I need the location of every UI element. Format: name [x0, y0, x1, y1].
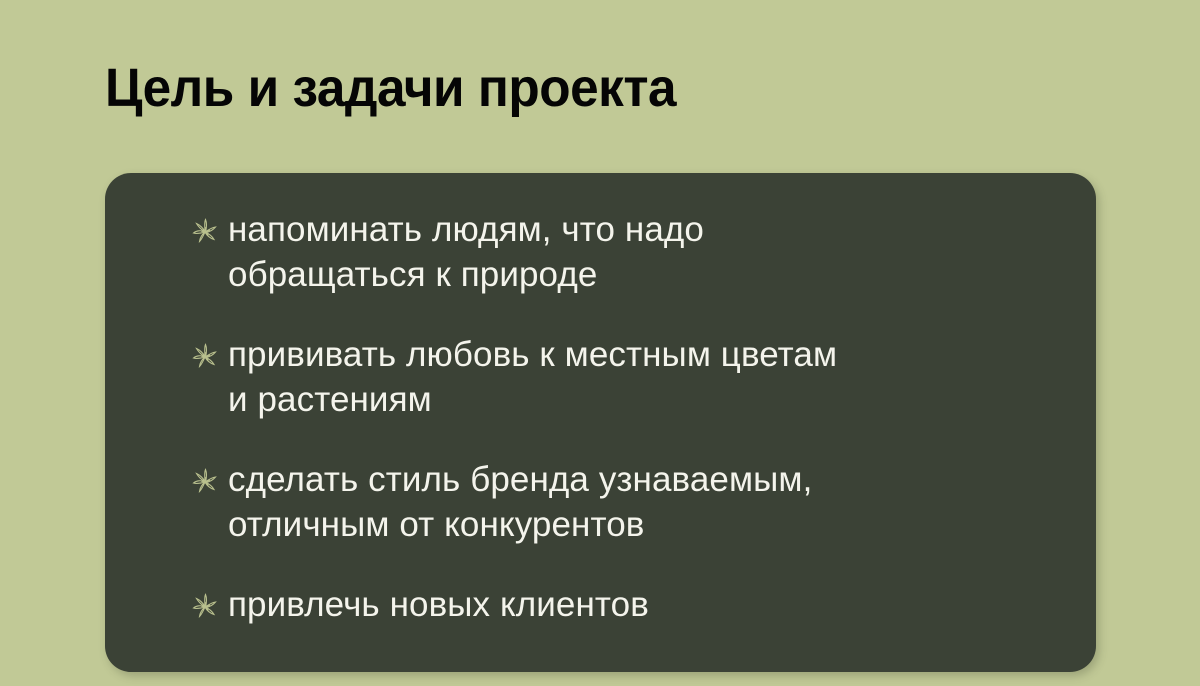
presentation-slide: Цель и задачи проекта напоминат — [0, 0, 1200, 686]
list-item-label: сделать стиль бренда узнаваемым, отличны… — [228, 457, 812, 547]
list-item: привлечь новых клиентов — [190, 582, 1068, 627]
list-item-label: напоминать людям, что надо обращаться к … — [228, 207, 704, 297]
list-item: прививать любовь к местным цветам и раст… — [190, 332, 1068, 422]
objectives-list: напоминать людям, что надо обращаться к … — [190, 207, 1068, 627]
objectives-card: напоминать людям, что надо обращаться к … — [105, 173, 1096, 672]
page-title: Цель и задачи проекта — [105, 57, 676, 119]
list-item-label: привлечь новых клиентов — [228, 582, 649, 627]
flower-leaf-icon — [190, 340, 220, 370]
flower-leaf-icon — [190, 215, 220, 245]
list-item-label: прививать любовь к местным цветам и раст… — [228, 332, 837, 422]
flower-leaf-icon — [190, 590, 220, 620]
list-item: сделать стиль бренда узнаваемым, отличны… — [190, 457, 1068, 547]
flower-leaf-icon — [190, 465, 220, 495]
list-item: напоминать людям, что надо обращаться к … — [190, 207, 1068, 297]
